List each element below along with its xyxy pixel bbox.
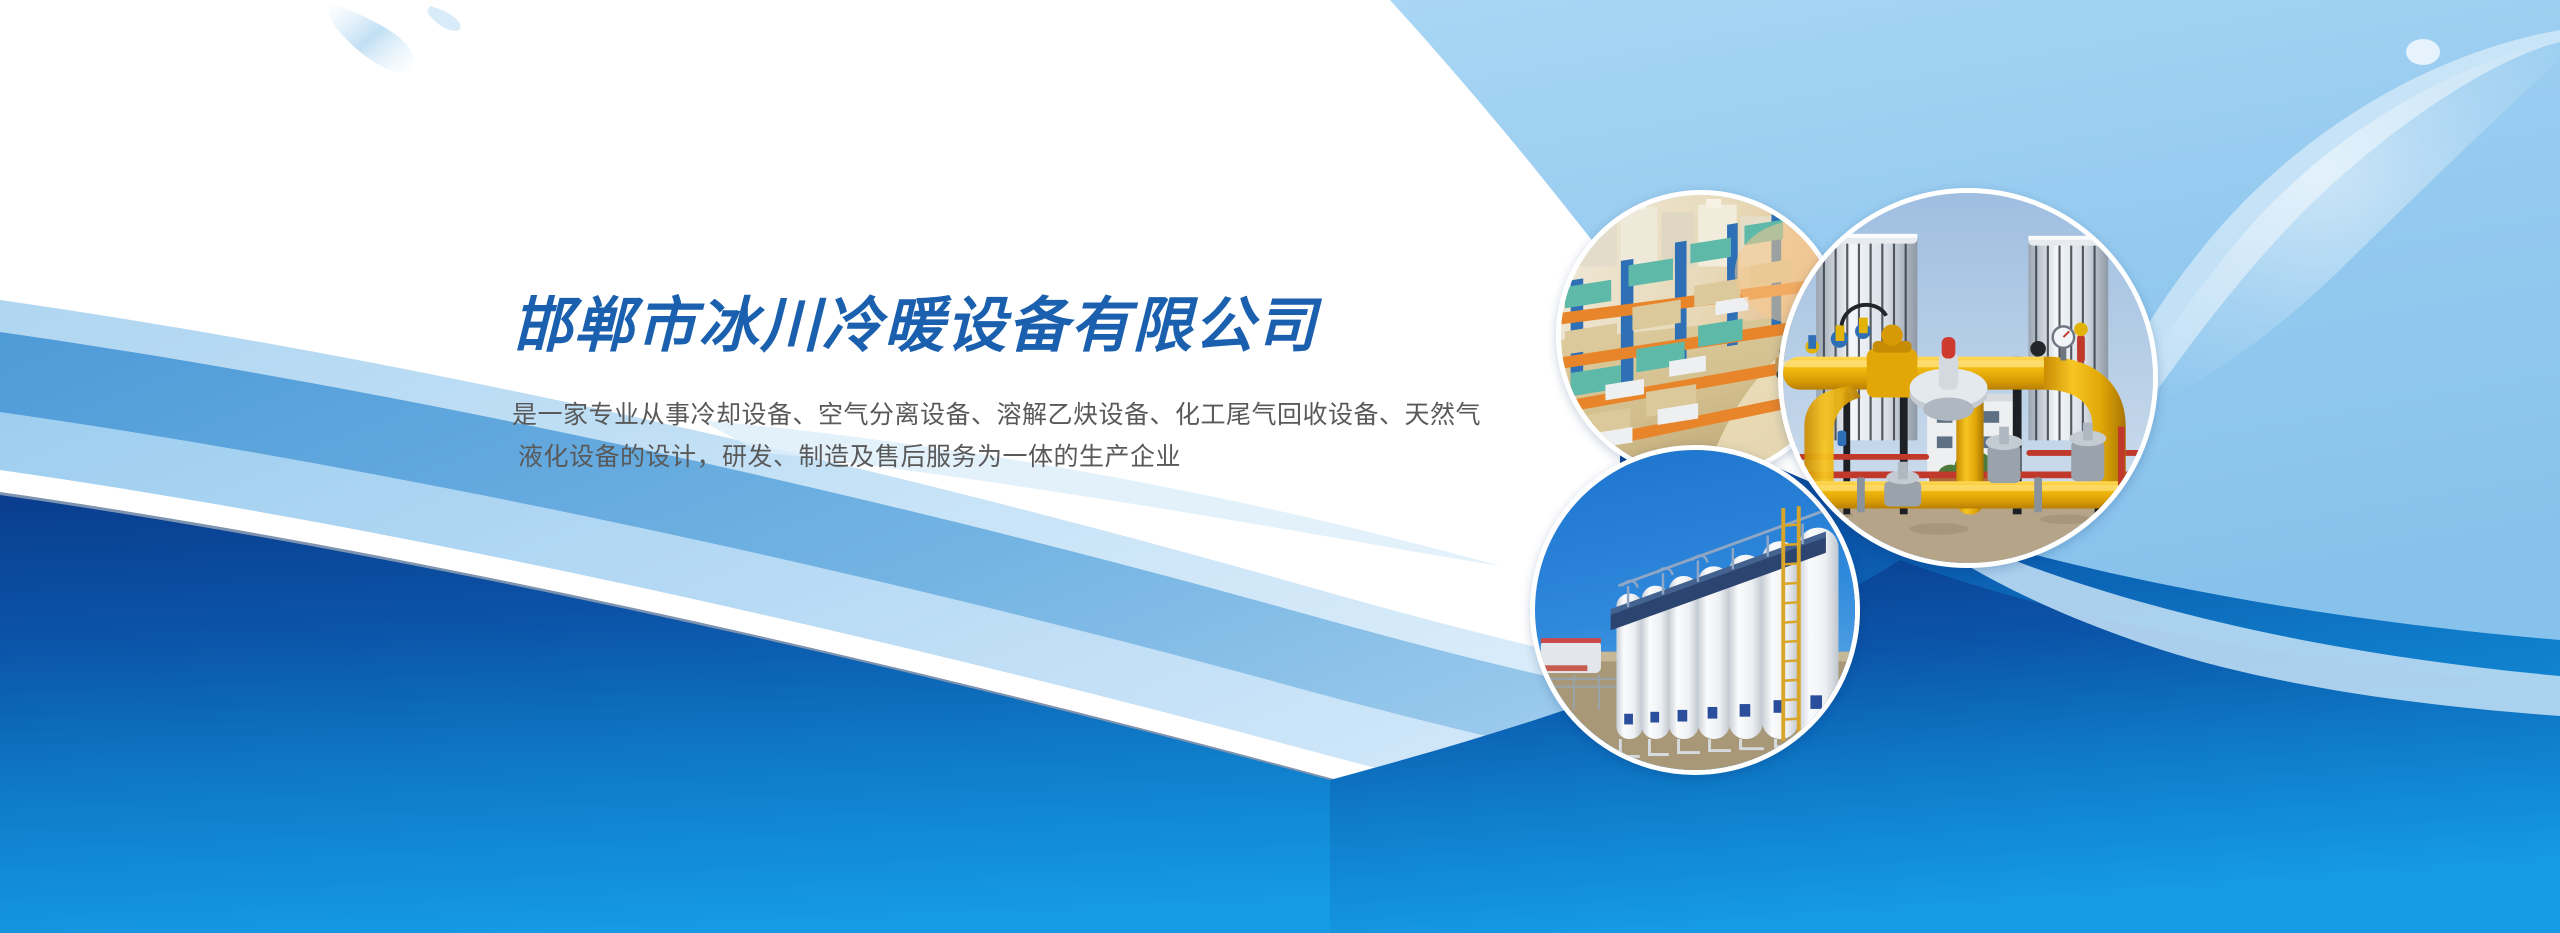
sky-bubble-dot [2406,39,2440,65]
tagline-line-1: 是一家专业从事冷却设备、空气分离设备、溶解乙炔设备、化工尾气回收设备、天然气 [512,394,1512,436]
tagline-line-2: 液化设备的设计，研发、制造及售后服务为一体的生产企业 [512,436,1512,478]
company-banner: 邯郸市冰川冷暖设备有限公司 是一家专业从事冷却设备、空气分离设备、溶解乙炔设备、… [0,0,2560,933]
photo-natural-gas-pipeline-station [1778,188,2158,568]
photo-cryogenic-storage-tanks [1530,445,1860,775]
pipeline-illustration [1783,193,2153,563]
company-tagline: 是一家专业从事冷却设备、空气分离设备、溶解乙炔设备、化工尾气回收设备、天然气 液… [512,356,1512,478]
banner-text-block: 邯郸市冰川冷暖设备有限公司 是一家专业从事冷却设备、空气分离设备、溶解乙炔设备、… [512,296,1532,478]
tanks-illustration [1535,450,1855,770]
company-title: 邯郸市冰川冷暖设备有限公司 [512,296,1532,356]
